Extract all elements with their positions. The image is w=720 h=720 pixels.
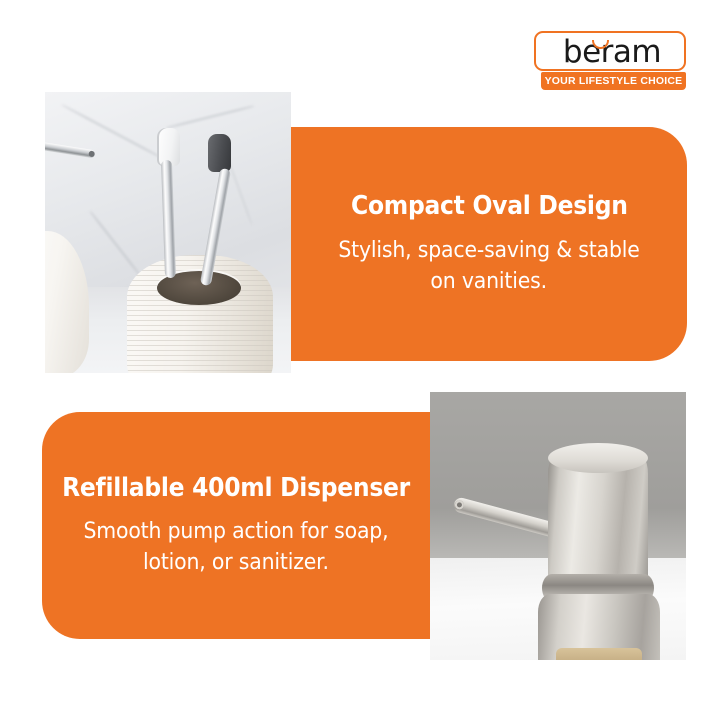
marble-vein: [227, 160, 252, 226]
feature-subtitle-line-1: Stylish, space-saving & stable: [338, 235, 639, 266]
feature-title: Compact Oval Design: [351, 191, 628, 221]
marble-vein: [90, 211, 140, 275]
feature-subtitle-line-1: Smooth pump action for soap,: [84, 516, 389, 547]
logo-tagline-bar: YOUR LIFESTYLE CHOICE: [541, 72, 686, 90]
feature-panel-compact-oval-design: Compact Oval Design Stylish, space-savin…: [291, 127, 687, 361]
feature-subtitle-line-2: on vanities.: [431, 266, 548, 297]
marble-vein: [166, 105, 254, 128]
ribbed-toothbrush-cup: [127, 255, 273, 373]
pump-base: [556, 648, 642, 660]
feature-title: Refillable 400ml Dispenser: [62, 473, 410, 503]
ceramic-bottle: [45, 231, 89, 373]
toothbrush-head-icon: [208, 134, 231, 172]
logo-tagline: YOUR LIFESTYLE CHOICE: [541, 72, 686, 90]
feature-photo-dispenser-pump: [430, 392, 686, 660]
pump-cap-top: [548, 443, 648, 473]
feature-photo-toothbrush-holder: [45, 92, 291, 373]
chrome-spout: [45, 142, 95, 159]
product-infographic: beram YOUR LIFESTYLE CHOICE Compact Oval…: [0, 0, 720, 720]
logo-wordmark-box: beram: [534, 31, 686, 71]
feature-panel-refillable-dispenser: Refillable 400ml Dispenser Smooth pump a…: [42, 412, 430, 639]
brand-logo: beram YOUR LIFESTYLE CHOICE: [534, 31, 690, 93]
pump-cap: [548, 448, 648, 584]
logo-wordmark: beram: [536, 32, 688, 74]
feature-subtitle-line-2: lotion, or sanitizer.: [143, 547, 329, 578]
